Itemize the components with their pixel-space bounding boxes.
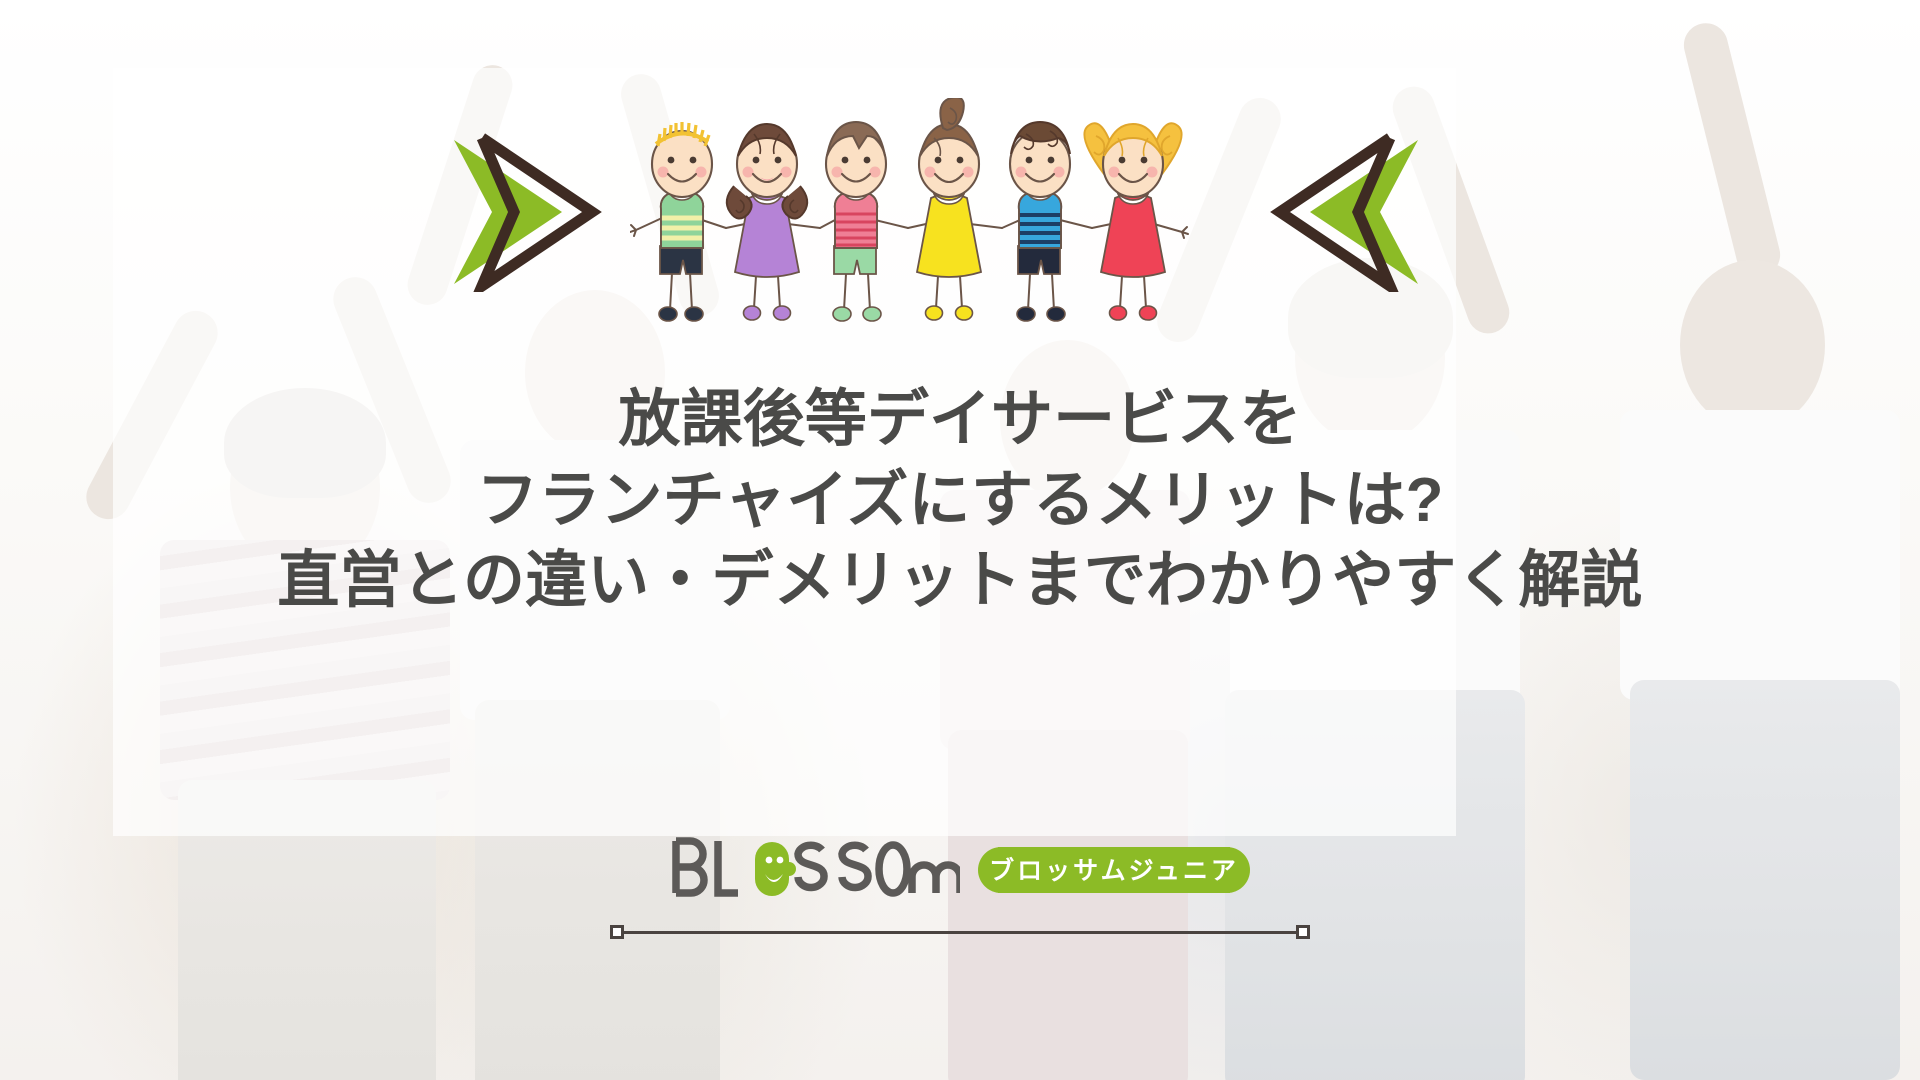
blossom-wordmark [670, 836, 960, 903]
underline-cap-right [1296, 925, 1310, 939]
page-title: 放課後等デイサービスを フランチャイズにするメリットは? 直営との違い・デメリッ… [0, 380, 1920, 622]
double-chevron-left-icon [1240, 132, 1420, 292]
logo-smile-face-icon [755, 842, 796, 896]
child-3 [820, 122, 908, 321]
double-chevron-right-icon [452, 132, 632, 292]
brand-logo: ブロッサムジュニア [0, 836, 1920, 939]
logo-row: ブロッサムジュニア [670, 836, 1250, 903]
logo-bubble-katakana: ブロッサムジュニア [978, 847, 1250, 893]
kids-holding-hands-illustration: .ol { stroke:#6b5548; stroke-width:2.1; … [630, 98, 1250, 328]
logo-underline-rule [610, 925, 1310, 939]
underline-cap-left [610, 925, 624, 939]
underline-line [618, 931, 1302, 934]
banner-canvas: .ol { stroke:#6b5548; stroke-width:2.1; … [0, 0, 1920, 1080]
child-5 [1002, 122, 1092, 321]
child-4 [908, 98, 1002, 320]
banner-content: .ol { stroke:#6b5548; stroke-width:2.1; … [0, 0, 1920, 1080]
child-2 [726, 124, 820, 320]
title-line-2: フランチャイズにするメリットは? [0, 461, 1920, 542]
title-line-1: 放課後等デイサービスを [0, 380, 1920, 461]
title-line-3: 直営との違い・デメリットまでわかりやすく解説 [0, 541, 1920, 622]
child-1 [630, 122, 726, 321]
child-6 [1084, 123, 1188, 320]
bubble-katakana-text: ブロッサムジュニア [989, 856, 1239, 885]
